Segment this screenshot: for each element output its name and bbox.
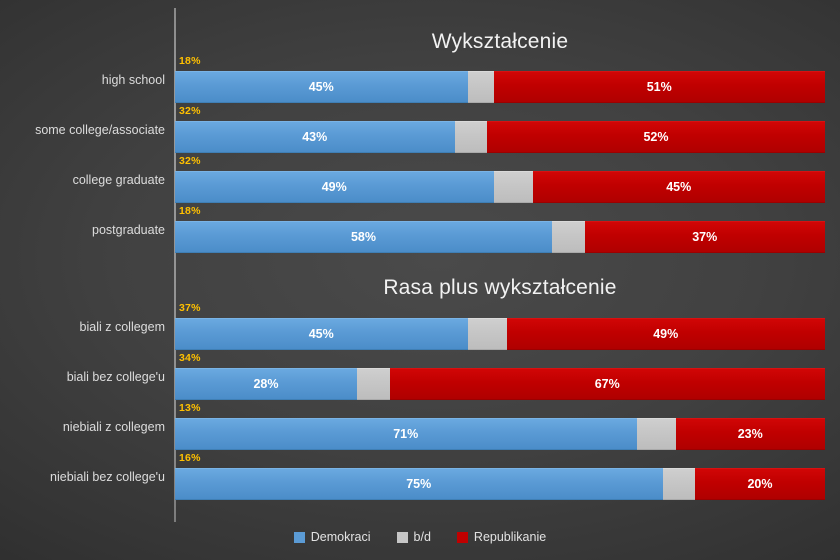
bar-segment-democrat: 43% [175, 121, 455, 153]
category-label: high school [0, 73, 165, 87]
bar-segment-label: 71% [393, 427, 418, 441]
legend-item[interactable]: Demokraci [294, 530, 371, 544]
bar-segment-republican: 67% [390, 368, 826, 400]
table-row: niebiali z collegem13%71%23% [0, 402, 840, 452]
share-of-electorate-value: 37% [179, 302, 201, 314]
share-of-electorate-value: 32% [179, 105, 201, 117]
bar-segment-no-answer [552, 221, 585, 253]
table-row: postgraduate18%58%37% [0, 205, 840, 255]
bar-segment-democrat: 75% [175, 468, 663, 500]
bar-segment-democrat: 45% [175, 71, 468, 103]
bar-segment-label: 43% [302, 130, 327, 144]
legend-item[interactable]: Republikanie [457, 530, 546, 544]
bar-segment-republican: 51% [494, 71, 826, 103]
chart-canvas: Wykształcenie Rasa plus wykształcenie hi… [0, 0, 840, 560]
bar-segment-label: 58% [351, 230, 376, 244]
bar-segment-no-answer [455, 121, 488, 153]
table-row: niebiali bez college'u16%75%20% [0, 452, 840, 502]
share-of-electorate-value: 18% [179, 55, 201, 67]
stacked-bar: 75%20% [175, 468, 825, 500]
bar-segment-republican: 37% [585, 221, 826, 253]
square-swatch-gray [397, 532, 408, 543]
bar-segment-republican: 45% [533, 171, 826, 203]
bar-segment-label: 23% [738, 427, 763, 441]
bar-segment-republican: 49% [507, 318, 826, 350]
share-of-electorate-value: 18% [179, 205, 201, 217]
section-title-education: Wykształcenie [175, 30, 825, 54]
bar-segment-no-answer [663, 468, 696, 500]
table-row: high school18%45%51% [0, 55, 840, 105]
stacked-bar: 43%52% [175, 121, 825, 153]
stacked-bar: 45%51% [175, 71, 825, 103]
bar-segment-democrat: 28% [175, 368, 357, 400]
share-of-electorate-value: 34% [179, 352, 201, 364]
stacked-bar: 45%49% [175, 318, 825, 350]
bar-segment-no-answer [468, 318, 507, 350]
category-label: biali z collegem [0, 320, 165, 334]
category-label: niebiali z collegem [0, 420, 165, 434]
stacked-bar: 71%23% [175, 418, 825, 450]
category-label: biali bez college'u [0, 370, 165, 384]
category-label: niebiali bez college'u [0, 470, 165, 484]
bar-segment-label: 45% [309, 80, 334, 94]
bar-segment-label: 52% [643, 130, 668, 144]
share-of-electorate-value: 16% [179, 452, 201, 464]
bar-segment-democrat: 49% [175, 171, 494, 203]
stacked-bar: 49%45% [175, 171, 825, 203]
square-swatch-red [457, 532, 468, 543]
bar-segment-republican: 20% [695, 468, 825, 500]
bar-segment-democrat: 58% [175, 221, 552, 253]
bar-segment-label: 20% [747, 477, 772, 491]
legend-label: Demokraci [311, 530, 371, 544]
legend-item[interactable]: b/d [397, 530, 431, 544]
stacked-bar: 58%37% [175, 221, 825, 253]
bar-segment-label: 37% [692, 230, 717, 244]
bar-segment-label: 49% [653, 327, 678, 341]
bar-segment-label: 45% [309, 327, 334, 341]
category-label: postgraduate [0, 223, 165, 237]
bar-segment-label: 51% [647, 80, 672, 94]
chart-legend: Demokracib/dRepublikanie [0, 530, 840, 544]
bar-segment-label: 67% [595, 377, 620, 391]
table-row: college graduate32%49%45% [0, 155, 840, 205]
section-title-race-plus-education: Rasa plus wykształcenie [175, 276, 825, 300]
legend-label: Republikanie [474, 530, 546, 544]
bar-segment-no-answer [357, 368, 390, 400]
bar-segment-democrat: 71% [175, 418, 637, 450]
bar-segment-no-answer [637, 418, 676, 450]
table-row: some college/associate32%43%52% [0, 105, 840, 155]
stacked-bar: 28%67% [175, 368, 825, 400]
bar-segment-label: 49% [322, 180, 347, 194]
category-label: college graduate [0, 173, 165, 187]
bar-segment-republican: 52% [487, 121, 825, 153]
table-row: biali z collegem37%45%49% [0, 302, 840, 352]
share-of-electorate-value: 13% [179, 402, 201, 414]
bar-segment-no-answer [468, 71, 494, 103]
category-label: some college/associate [0, 123, 165, 137]
table-row: biali bez college'u34%28%67% [0, 352, 840, 402]
bar-segment-label: 75% [406, 477, 431, 491]
legend-label: b/d [414, 530, 431, 544]
bar-segment-label: 45% [666, 180, 691, 194]
bar-segment-label: 28% [253, 377, 278, 391]
bar-segment-republican: 23% [676, 418, 826, 450]
square-swatch-blue [294, 532, 305, 543]
bar-segment-no-answer [494, 171, 533, 203]
bar-segment-democrat: 45% [175, 318, 468, 350]
share-of-electorate-value: 32% [179, 155, 201, 167]
